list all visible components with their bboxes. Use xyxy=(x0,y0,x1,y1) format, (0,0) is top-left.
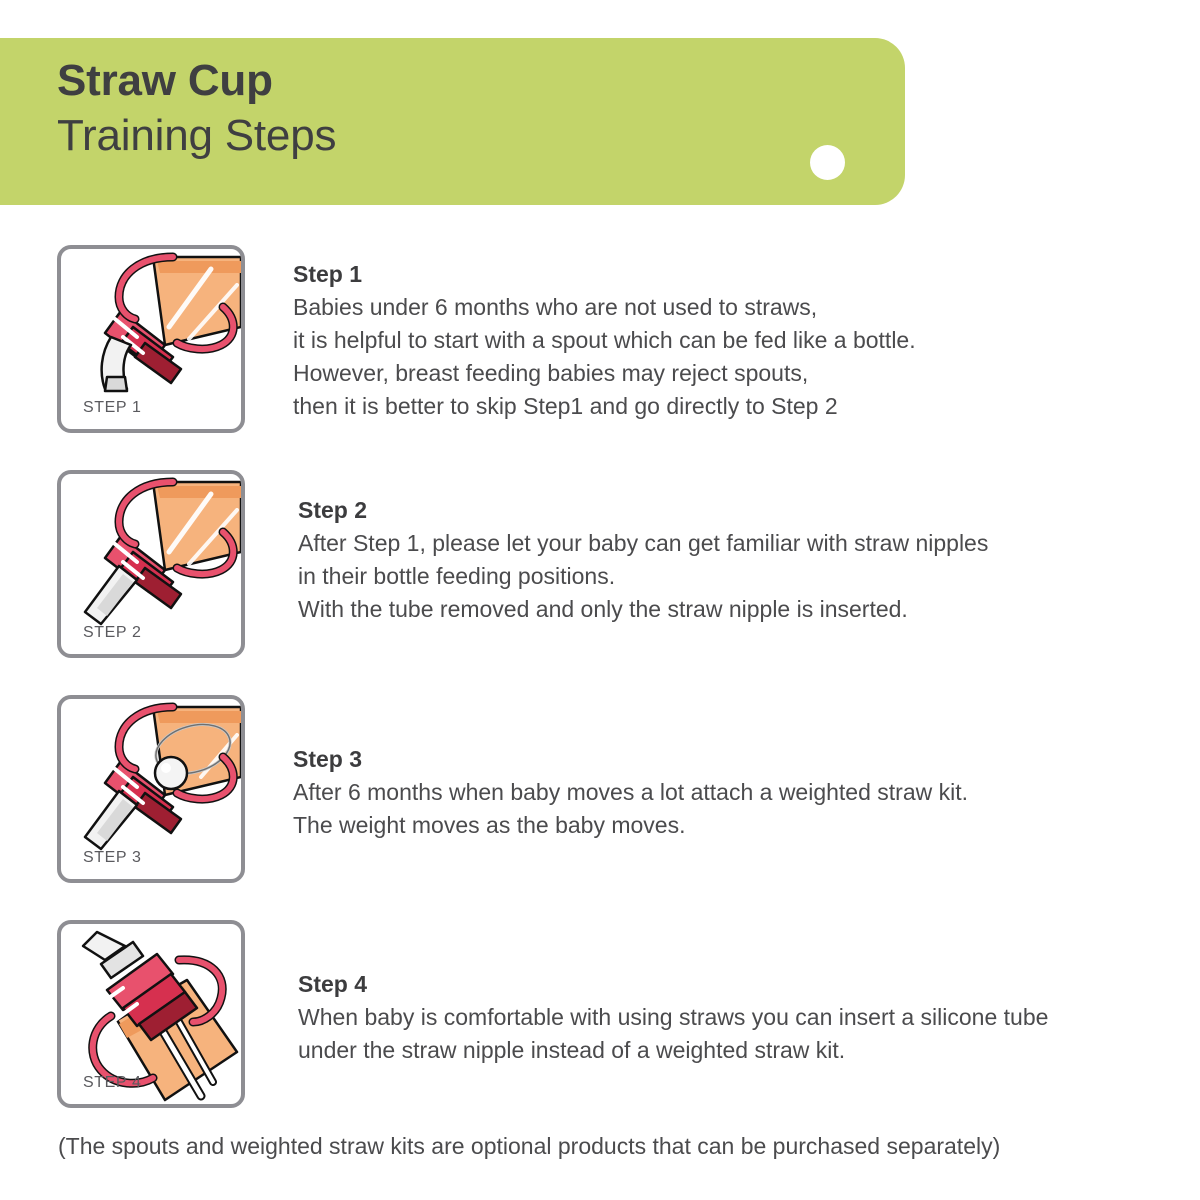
page-title: Straw Cup xyxy=(57,54,757,108)
upright-bottle-with-silicone-tube-illustration: STEP 4 xyxy=(57,920,245,1108)
step-line: The weight moves as the baby moves. xyxy=(293,809,968,842)
figure-caption: STEP 4 xyxy=(83,1074,141,1092)
step-line: it is helpful to start with a spout whic… xyxy=(293,324,916,357)
bottle-with-weighted-straw-kit-illustration: STEP 3 xyxy=(57,695,245,883)
step-heading: Step 4 xyxy=(298,968,1048,1001)
header-banner: Straw Cup Training Steps xyxy=(0,38,905,205)
step-line: However, breast feeding babies may rejec… xyxy=(293,357,916,390)
footer-note: (The spouts and weighted straw kits are … xyxy=(58,1133,1000,1160)
bottle-with-straw-nipple-illustration: STEP 2 xyxy=(57,470,245,658)
step-line: Babies under 6 months who are not used t… xyxy=(293,291,916,324)
figure-caption: STEP 3 xyxy=(83,849,141,867)
step-line: in their bottle feeding positions. xyxy=(298,560,988,593)
figure-caption: STEP 2 xyxy=(83,624,141,642)
step-text-block: Step 3 After 6 months when baby moves a … xyxy=(293,743,968,842)
step-line: With the tube removed and only the straw… xyxy=(298,593,988,626)
bottle-with-spout-illustration: STEP 1 xyxy=(57,245,245,433)
step-heading: Step 1 xyxy=(293,258,916,291)
figure-caption: STEP 1 xyxy=(83,399,141,417)
page-subtitle: Training Steps xyxy=(57,108,757,164)
step-line: When baby is comfortable with using stra… xyxy=(298,1001,1048,1034)
step-text-block: Step 4 When baby is comfortable with usi… xyxy=(298,968,1048,1067)
step-line: After Step 1, please let your baby can g… xyxy=(298,527,988,560)
step-text-block: Step 2 After Step 1, please let your bab… xyxy=(298,494,988,626)
step-line: under the straw nipple instead of a weig… xyxy=(298,1034,1048,1067)
step-text-block: Step 1 Babies under 6 months who are not… xyxy=(293,258,916,423)
punch-hole-icon xyxy=(810,145,845,180)
step-line: After 6 months when baby moves a lot att… xyxy=(293,776,968,809)
step-heading: Step 3 xyxy=(293,743,968,776)
step-line: then it is better to skip Step1 and go d… xyxy=(293,390,916,423)
header-title-group: Straw Cup Training Steps xyxy=(57,54,757,164)
step-heading: Step 2 xyxy=(298,494,988,527)
